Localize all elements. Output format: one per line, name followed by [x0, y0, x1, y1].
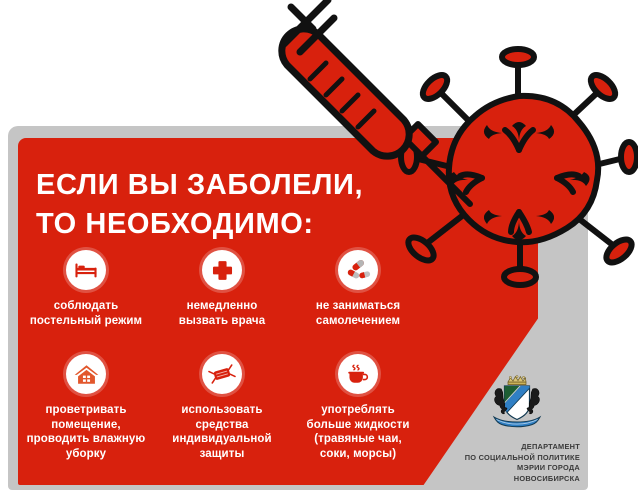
advice-item-protective-equipment: использовать средства индивидуальной защ… [154, 354, 290, 462]
advice-caption: употреблять больше жидкости (травяные ча… [307, 403, 410, 462]
advice-row-2: проветривать помещение, проводить влажну… [18, 354, 428, 462]
hot-drink-cup-icon [338, 354, 378, 394]
emblem-caption: ДЕПАРТАМЕНТ ПО СОЦИАЛЬНОЙ ПОЛИТИКЕ МЭРИИ… [452, 442, 582, 485]
medical-cross-icon [202, 250, 242, 290]
advice-item-no-self-medication: не заниматься самолечением [290, 250, 426, 328]
bed-icon [66, 250, 106, 290]
novosibirsk-coat-of-arms-icon [486, 372, 548, 432]
advice-item-drink-fluids: употреблять больше жидкости (травяные ча… [290, 354, 426, 462]
emblem-block: ДЕПАРТАМЕНТ ПО СОЦИАЛЬНОЙ ПОЛИТИКЕ МЭРИИ… [452, 372, 582, 485]
advice-item-ventilate-room: проветривать помещение, проводить влажну… [18, 354, 154, 462]
advice-caption: немедленно вызвать врача [179, 299, 265, 328]
house-icon [66, 354, 106, 394]
advice-caption: проветривать помещение, проводить влажну… [27, 403, 146, 462]
advice-caption: соблюдать постельный режим [30, 299, 142, 328]
advice-item-call-doctor: немедленно вызвать врача [154, 250, 290, 328]
advice-caption: использовать средства индивидуальной защ… [154, 403, 290, 462]
advice-caption: не заниматься самолечением [316, 299, 400, 328]
face-mask-icon [202, 354, 242, 394]
pills-icon [338, 250, 378, 290]
advice-row-1: соблюдать постельный режим немедленно вы… [18, 250, 428, 354]
advice-item-bed-rest: соблюдать постельный режим [18, 250, 154, 328]
infographic-poster: ЕСЛИ ВЫ ЗАБОЛЕЛИ, ТО НЕОБХОДИМО: соблюда… [0, 0, 638, 497]
page-title: ЕСЛИ ВЫ ЗАБОЛЕЛИ, ТО НЕОБХОДИМО: [36, 166, 466, 243]
advice-grid: соблюдать постельный режим немедленно вы… [18, 250, 428, 462]
